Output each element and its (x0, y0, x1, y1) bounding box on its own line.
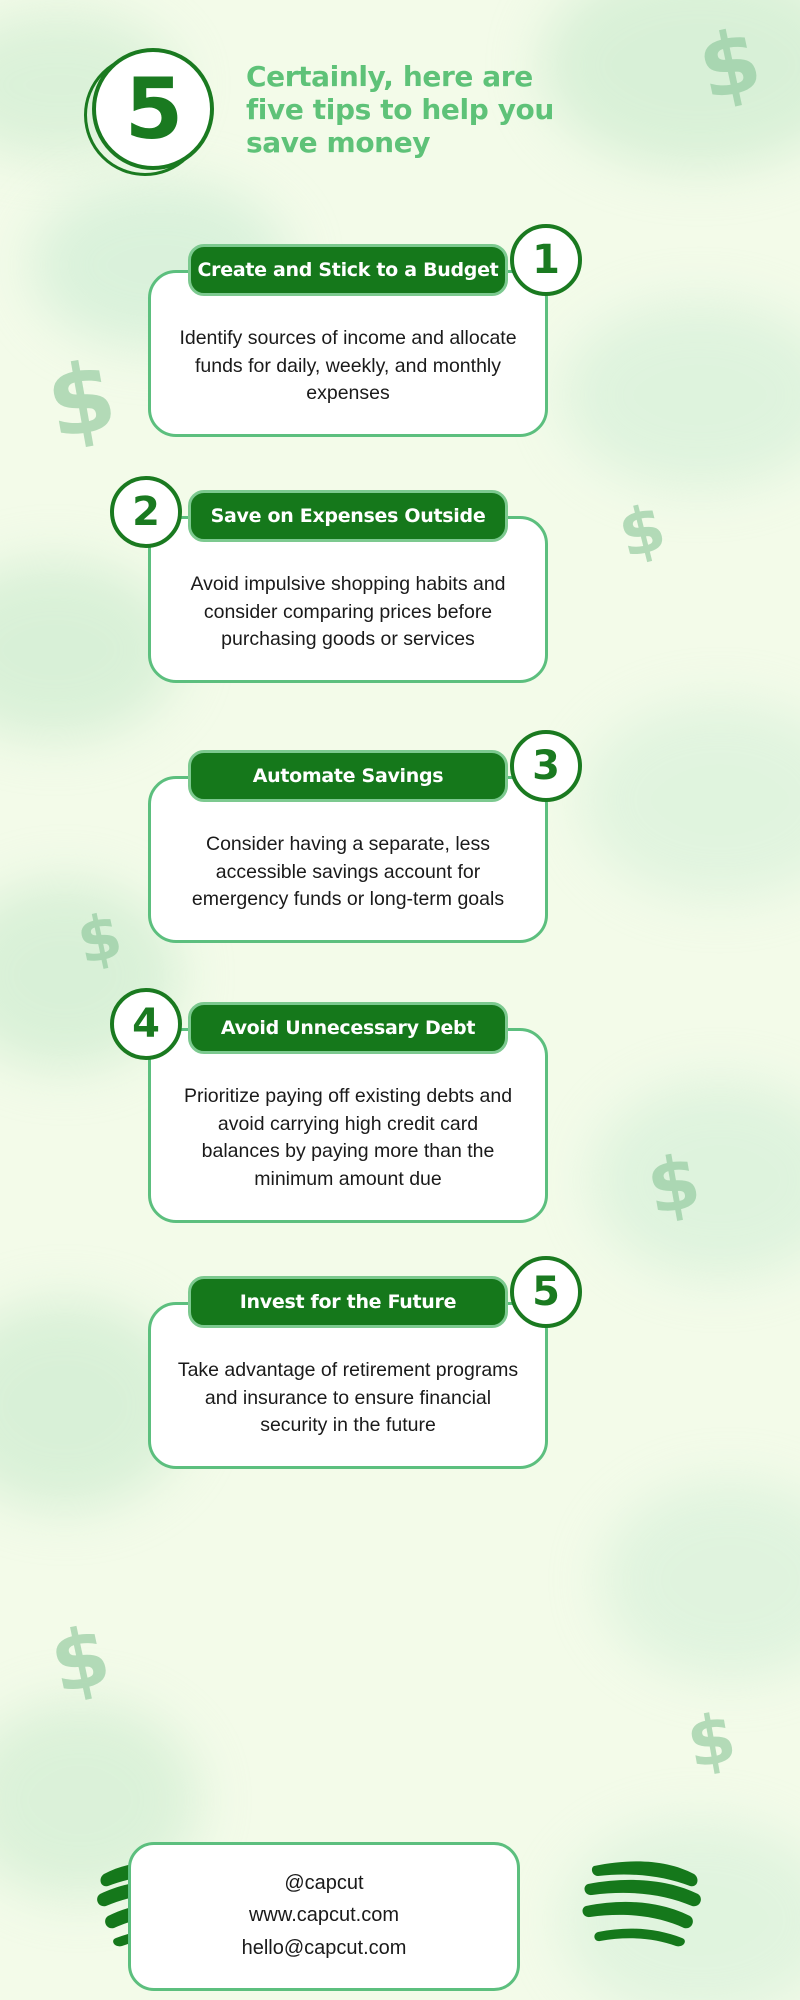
tip-card: 2 Save on Expenses Outside Avoid impulsi… (148, 516, 548, 683)
watercolor-cloud (580, 700, 800, 900)
tip-number-badge: 1 (510, 224, 582, 296)
header-number-circle: 5 (92, 48, 214, 170)
header-number: 5 (92, 48, 214, 170)
tip-title: Automate Savings (188, 750, 508, 802)
tip-card: 5 Invest for the Future Take advantage o… (148, 1302, 548, 1469)
footer-email[interactable]: hello@capcut.com (151, 1932, 497, 1964)
tip-number-badge: 3 (510, 730, 582, 802)
dollar-sign-icon: $ (613, 496, 672, 569)
footer-website[interactable]: www.capcut.com (151, 1899, 497, 1931)
tip-number-badge: 2 (110, 476, 182, 548)
header: 5 Certainly, here are five tips to help … (92, 40, 712, 190)
watercolor-cloud (600, 1480, 800, 1680)
dollar-sign-icon: $ (72, 904, 127, 974)
tip-card: 4 Avoid Unnecessary Debt Prioritize payi… (148, 1028, 548, 1223)
tip-title: Invest for the Future (188, 1276, 508, 1328)
tip-body: Prioritize paying off existing debts and… (148, 1028, 548, 1223)
tip-number-badge: 4 (110, 988, 182, 1060)
watercolor-cloud (560, 1820, 800, 2000)
infographic-page: $ $ $ $ $ $ $ 5 Certainly, here are five… (0, 0, 800, 2000)
tip-title: Save on Expenses Outside (188, 490, 508, 542)
brush-stroke-right-icon (572, 1846, 702, 1956)
tip-card: 3 Automate Savings Consider having a sep… (148, 776, 548, 943)
dollar-sign-icon: $ (40, 347, 122, 453)
footer-contact-card: @capcut www.capcut.com hello@capcut.com (128, 1842, 520, 1991)
tip-card: 1 Create and Stick to a Budget Identify … (148, 270, 548, 437)
watercolor-cloud (590, 1080, 800, 1280)
page-title: Certainly, here are five tips to help yo… (246, 60, 576, 159)
tip-title: Create and Stick to a Budget (188, 244, 508, 296)
dollar-sign-icon: $ (44, 1615, 117, 1707)
footer-handle: @capcut (151, 1867, 497, 1899)
tip-title: Avoid Unnecessary Debt (188, 1002, 508, 1054)
watercolor-cloud (560, 300, 800, 490)
dollar-sign-icon: $ (642, 1144, 706, 1226)
dollar-sign-icon: $ (682, 1704, 740, 1779)
tip-number-badge: 5 (510, 1256, 582, 1328)
